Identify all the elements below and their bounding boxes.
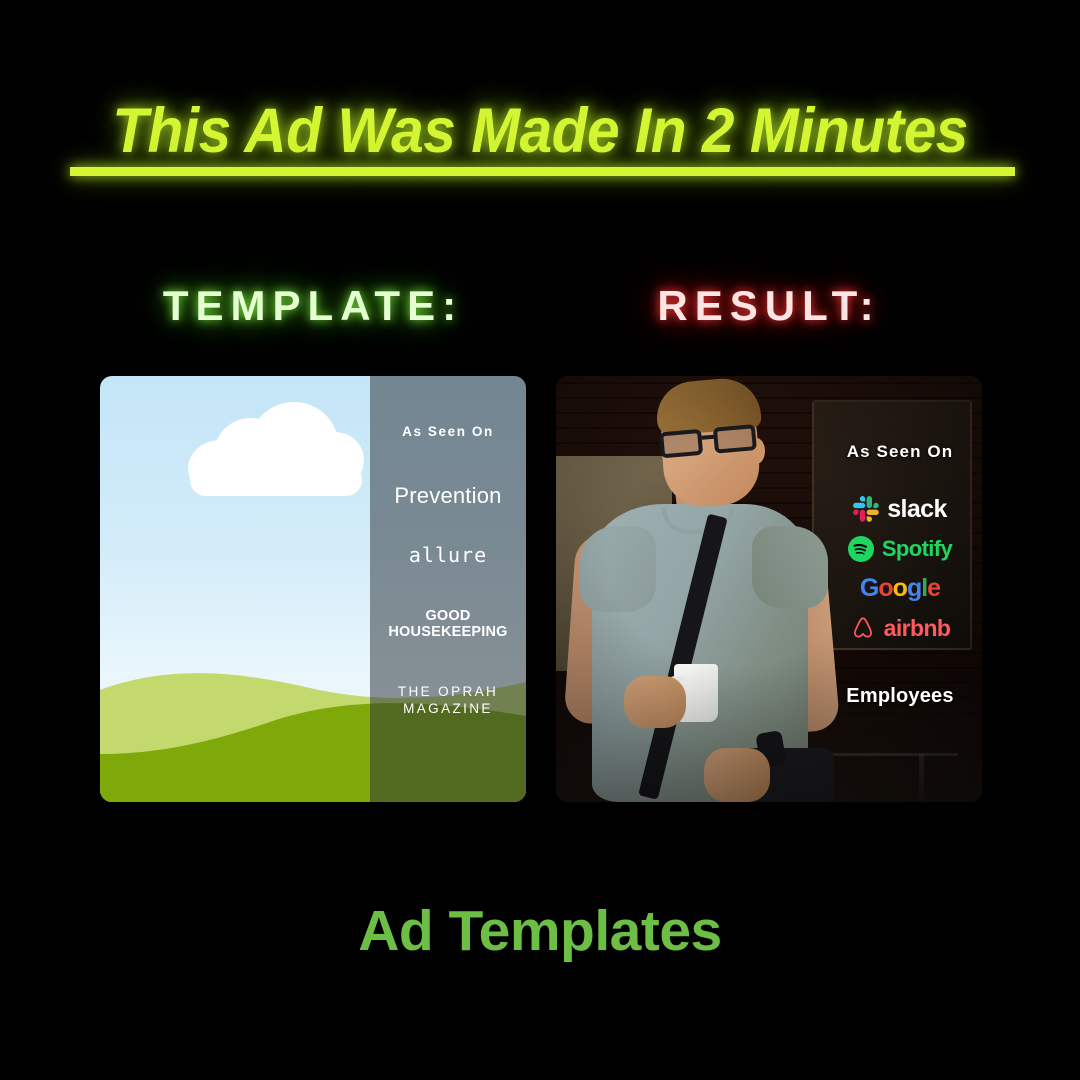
- headline-underline: [70, 167, 1015, 176]
- template-as-seen-on-heading: As Seen On: [402, 424, 494, 439]
- gh-line-1: GOOD: [388, 609, 507, 625]
- template-brand-allure: allure: [409, 543, 487, 567]
- template-card[interactable]: As Seen On Prevention allure GOOD HOUSEK…: [100, 376, 526, 802]
- spotify-label: Spotify: [882, 538, 952, 560]
- cloud-icon: [188, 402, 358, 494]
- slack-icon: [853, 496, 879, 522]
- result-overlay-panel: As Seen On slack Spotify Google: [818, 376, 982, 802]
- spotify-icon: [848, 536, 874, 562]
- footer-brand-text: Ad Templates: [0, 898, 1080, 964]
- airbnb-label: airbnb: [884, 617, 951, 640]
- slack-label: slack: [887, 497, 947, 522]
- headline-container: This Ad Was Made In 2 Minutes: [0, 100, 1080, 169]
- template-brand-good-housekeeping: GOOD HOUSEKEEPING: [388, 609, 507, 640]
- oprah-line-1: THE OPRAH: [398, 684, 498, 700]
- oprah-line-2: MAGAZINE: [398, 701, 498, 717]
- template-overlay-panel: As Seen On Prevention allure GOOD HOUSEK…: [370, 376, 526, 802]
- logo-spotify: Spotify: [818, 536, 982, 562]
- logo-google: Google: [818, 574, 982, 603]
- result-as-seen-on-heading: As Seen On: [847, 442, 953, 462]
- label-template: TEMPLATE:: [100, 282, 526, 330]
- logo-slack: slack: [818, 496, 982, 522]
- result-card[interactable]: As Seen On slack Spotify Google: [556, 376, 982, 802]
- logo-airbnb: airbnb: [818, 615, 982, 641]
- google-wordmark: Google: [860, 574, 940, 603]
- label-result: RESULT:: [556, 282, 982, 330]
- airbnb-belo-icon: [850, 615, 876, 641]
- gh-line-2: HOUSEKEEPING: [388, 625, 507, 641]
- template-brand-prevention: Prevention: [394, 483, 501, 509]
- result-employees-text: Employees: [846, 685, 953, 708]
- page-title: This Ad Was Made In 2 Minutes: [108, 100, 971, 169]
- template-brand-oprah-magazine: THE OPRAH MAGAZINE: [398, 684, 498, 717]
